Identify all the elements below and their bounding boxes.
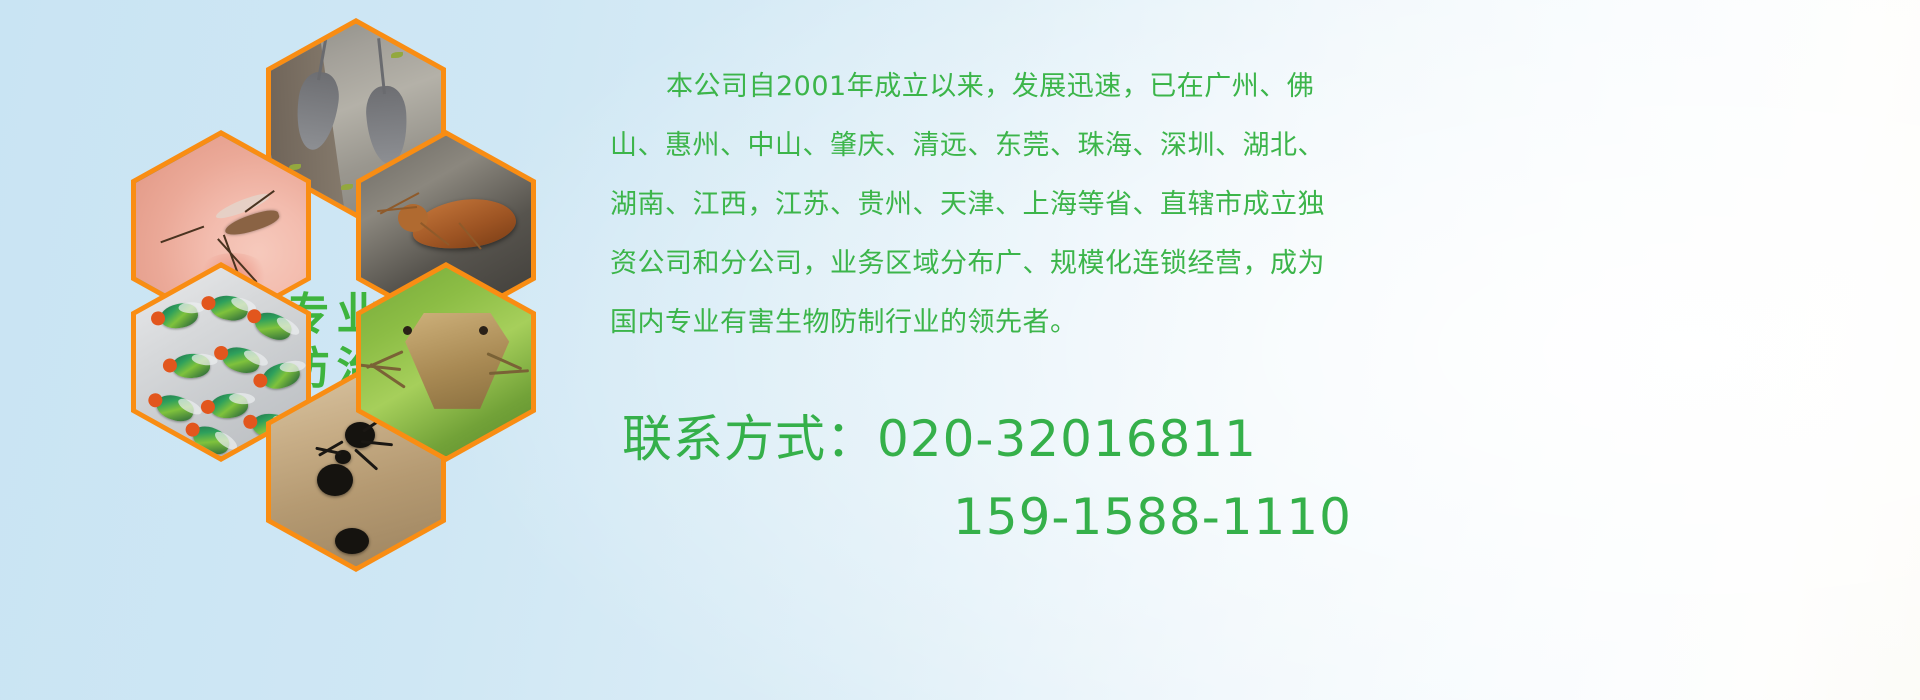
copy-block: 本公司自2001年成立以来，发展迅速，已在广州、佛山、惠州、中山、肇庆、清远、东… <box>610 30 1330 379</box>
hex-photo-cluster: 专业 防治 <box>88 0 588 580</box>
contact-label: 联系方式： <box>622 410 877 468</box>
stink-bug-image <box>361 268 531 457</box>
contact-block: 联系方式：020-32016811 159-1588-1110 <box>622 400 1382 556</box>
phone-primary[interactable]: 020-32016811 <box>877 410 1257 468</box>
company-description: 本公司自2001年成立以来，发展迅速，已在广州、佛山、惠州、中山、肇庆、清远、东… <box>610 57 1330 352</box>
promo-banner: 专业 防治 <box>0 0 1920 700</box>
phone-secondary[interactable]: 159-1588-1110 <box>622 478 1382 556</box>
